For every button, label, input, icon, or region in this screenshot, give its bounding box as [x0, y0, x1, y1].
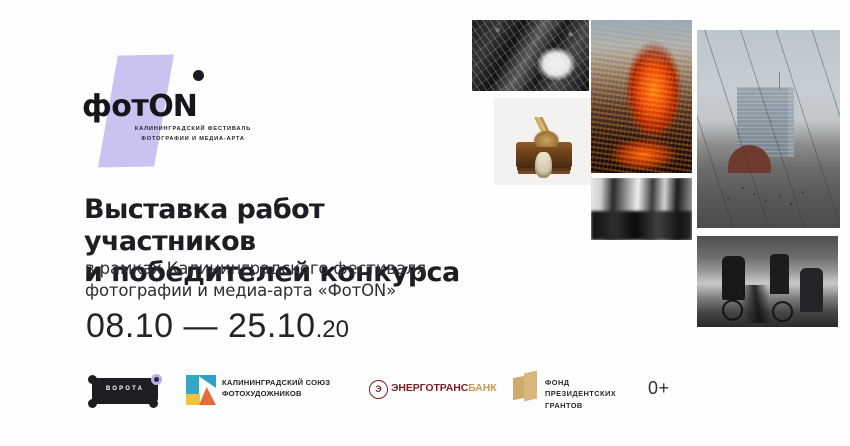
- photo-collage: [455, 0, 850, 340]
- event-dates: 08.10 — 25.10.20: [86, 309, 349, 343]
- logo-subtitle-line-2: ФОТОГРАФИИ И МЕДИА-АРТА: [108, 134, 278, 144]
- presidential-grants-mark-icon: [513, 372, 539, 402]
- photo-union-label: КАЛИНИНГРАДСКИЙ СОЮЗ ФОТОХУДОЖНИКОВ: [222, 378, 372, 400]
- photo-molten-fire: [591, 20, 692, 173]
- partner-logos-bar: ВОРОТА КАЛИНИНГРАДСКИЙ СОЮЗ ФОТОХУДОЖНИК…: [0, 366, 850, 426]
- date-end: 25.10: [228, 307, 316, 345]
- logo-subtitle: КАЛИНИНГРАДСКИЙ ФЕСТИВАЛЬ ФОТОГРАФИИ И М…: [108, 124, 278, 145]
- subhead-line-1: в рамках Калининградского фестиваля: [85, 258, 485, 280]
- logo-wordmark-bold: ON: [148, 89, 197, 124]
- photo-union-line-2: ФОТОХУДОЖНИКОВ: [222, 389, 372, 400]
- photo-union-line-1: КАЛИНИНГРАДСКИЙ СОЮЗ: [222, 378, 372, 389]
- age-rating-badge: 0+: [648, 378, 670, 399]
- energotransbank-label-part-1: ЭНЕРГОТРАНС: [391, 382, 468, 394]
- energotransbank-emblem-icon: [369, 380, 388, 399]
- energotransbank-label: ЭНЕРГОТРАНСБАНК: [391, 382, 497, 394]
- photo-union-k-mark-icon: [186, 375, 216, 405]
- vorota-purple-dot-icon: [151, 374, 162, 385]
- logo-dot-icon: [193, 70, 204, 81]
- date-year: .20: [316, 316, 349, 343]
- photo-motion-blur: [591, 178, 692, 240]
- photo-bmx-riders: [697, 236, 838, 327]
- logo-subtitle-line-1: КАЛИНИНГРАДСКИЙ ФЕСТИВАЛЬ: [108, 124, 278, 134]
- logo-wordmark: фотON: [82, 92, 197, 122]
- presidential-grants-line-3: ГРАНТОВ: [545, 400, 675, 411]
- logo-wordmark-light: фот: [82, 89, 148, 124]
- date-start: 08.10: [86, 307, 174, 345]
- page-subtitle: в рамках Калининградского фестиваля фото…: [85, 258, 485, 302]
- photo-city-square: [697, 30, 840, 228]
- vorota-label: ВОРОТА: [86, 386, 164, 392]
- poster-canvas: фотON КАЛИНИНГРАДСКИЙ ФЕСТИВАЛЬ ФОТОГРАФ…: [0, 0, 850, 446]
- photo-still-life: [494, 98, 592, 185]
- energotransbank-label-part-2: БАНК: [468, 382, 496, 394]
- partner-logo-vorota: ВОРОТА: [86, 373, 164, 409]
- festival-logo: фотON КАЛИНИНГРАДСКИЙ ФЕСТИВАЛЬ ФОТОГРАФ…: [78, 52, 338, 182]
- subhead-line-2: фотографии и медиа-арта «ФотON»: [85, 280, 485, 302]
- photo-bw-branches: [472, 20, 589, 91]
- date-separator: —: [184, 307, 219, 345]
- headline-line-1: Выставка работ участников: [84, 194, 484, 257]
